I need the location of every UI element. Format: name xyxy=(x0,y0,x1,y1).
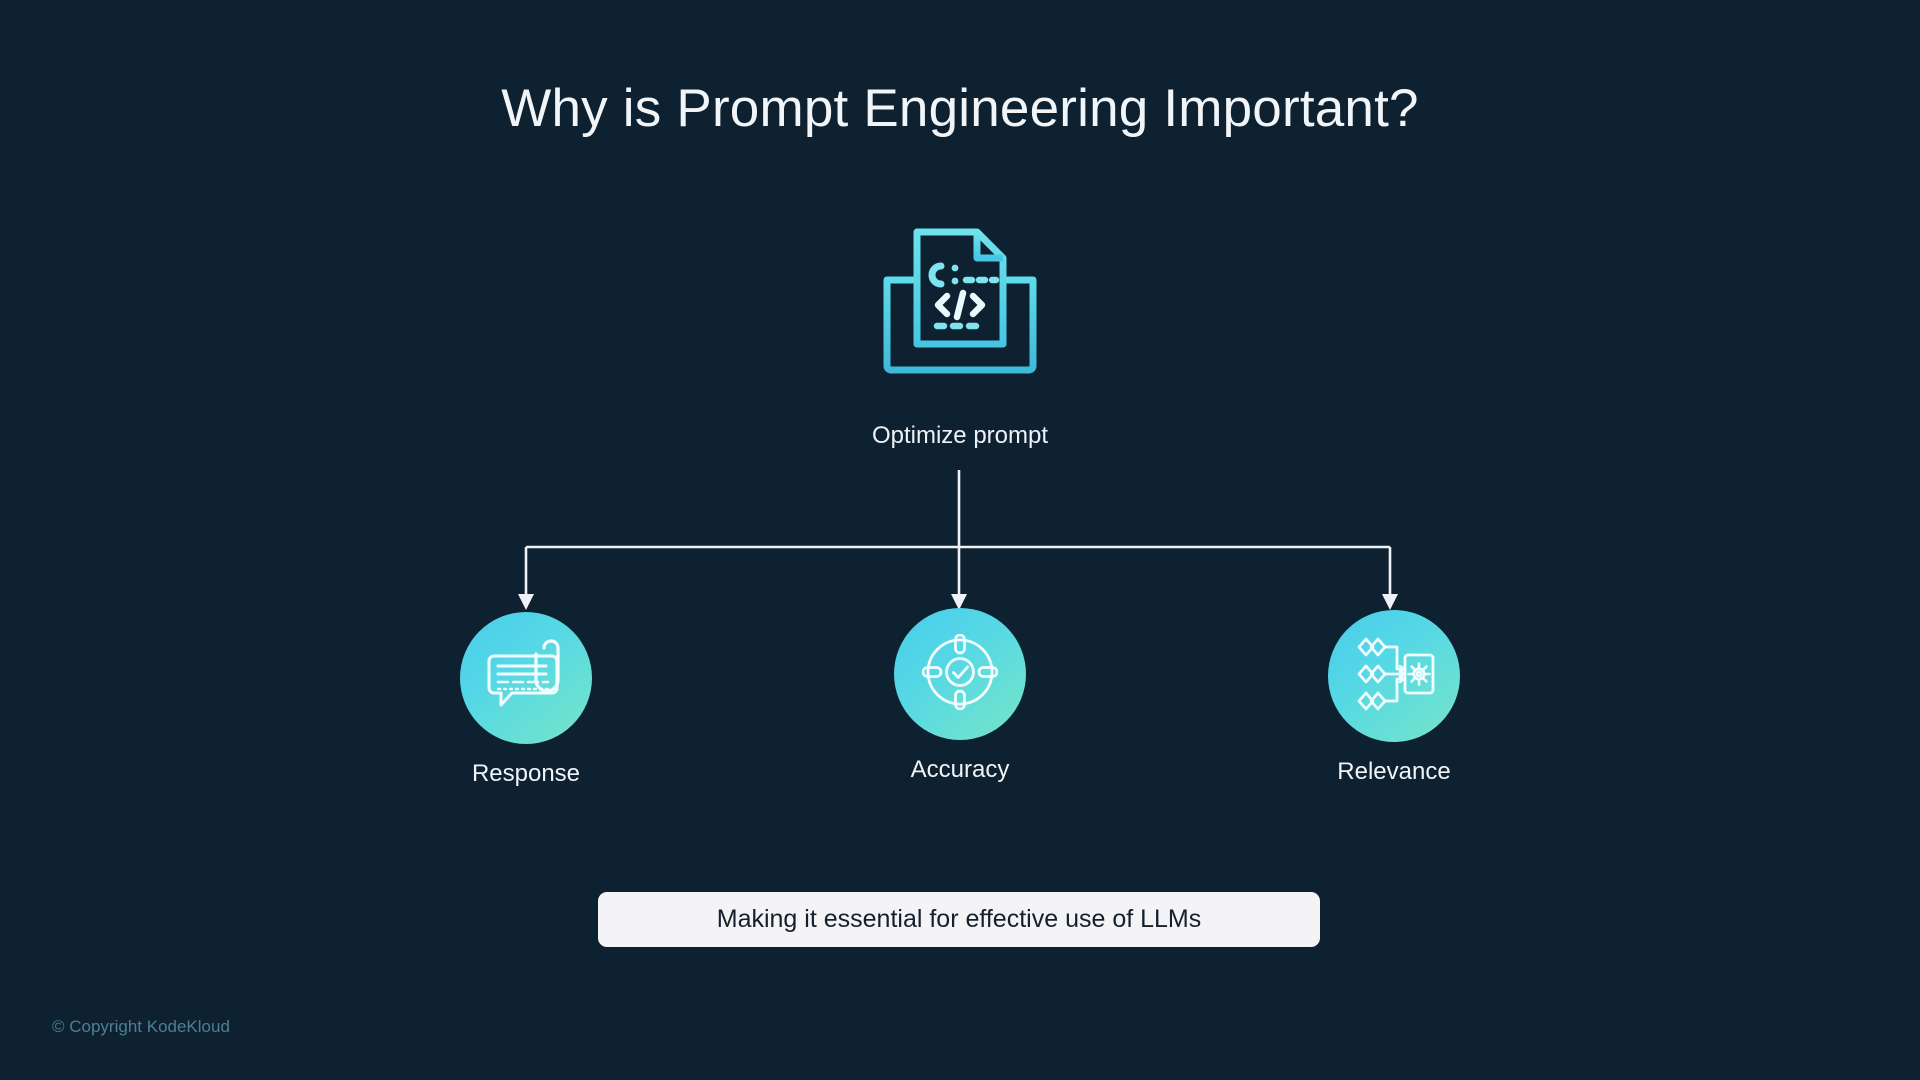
branch-node-response[interactable]: Response xyxy=(396,612,656,788)
branch-circle-response xyxy=(460,612,592,744)
copyright-footer: © Copyright KodeKloud xyxy=(52,1017,230,1037)
chat-bubble-attachment-icon xyxy=(486,638,566,719)
workflow-gear-icon xyxy=(1353,635,1435,718)
page-title: Why is Prompt Engineering Important? xyxy=(0,78,1920,139)
summary-callout-text: Making it essential for effective use of… xyxy=(717,905,1202,934)
branch-circle-accuracy xyxy=(894,608,1026,740)
top-node-optimize-prompt: Optimize prompt xyxy=(832,222,1088,450)
summary-callout-box: Making it essential for effective use of… xyxy=(598,892,1320,947)
branch-circle-relevance xyxy=(1328,610,1460,742)
target-checkmark-icon xyxy=(922,634,998,715)
branch-label-response: Response xyxy=(396,760,656,788)
branch-node-accuracy[interactable]: Accuracy xyxy=(830,608,1090,784)
branch-label-accuracy: Accuracy xyxy=(830,756,1090,784)
monitor-code-document-icon xyxy=(832,222,1088,412)
top-node-label: Optimize prompt xyxy=(832,422,1088,450)
connector-lines xyxy=(0,470,1920,620)
branch-node-relevance[interactable]: Relevance xyxy=(1264,610,1524,786)
slide-canvas: Why is Prompt Engineering Important? xyxy=(0,0,1920,1080)
branch-label-relevance: Relevance xyxy=(1264,758,1524,786)
